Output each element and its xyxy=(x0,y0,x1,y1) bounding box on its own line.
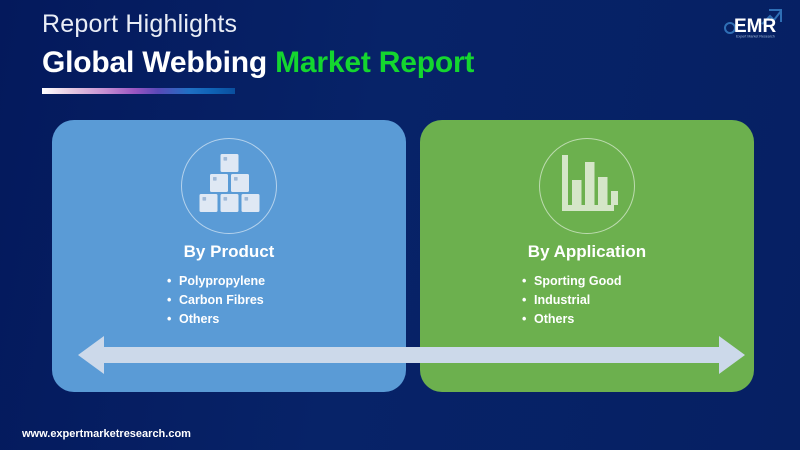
list-item: Polypropylene xyxy=(167,272,291,291)
footer-website-url[interactable]: www.expertmarketresearch.com xyxy=(22,428,191,440)
emr-logo[interactable]: EMR Expert Market Research xyxy=(722,6,790,40)
card-item-list: Polypropylene Carbon Fibres Others xyxy=(52,272,406,329)
bar-chart-icon xyxy=(539,138,635,234)
segment-card-by-product[interactable]: By Product Polypropylene Carbon Fibres O… xyxy=(52,120,406,392)
boxes-stack-icon xyxy=(181,138,277,234)
list-item: Sporting Good xyxy=(522,272,652,291)
list-item: Industrial xyxy=(522,291,652,310)
page-eyebrow: Report Highlights xyxy=(42,10,237,39)
page-title-accent: Market Report xyxy=(275,46,474,79)
slide-canvas: Report Highlights Global Webbing Market … xyxy=(0,0,800,450)
segment-card-by-application[interactable]: By Application Sporting Good Industrial … xyxy=(420,120,754,392)
list-item: Carbon Fibres xyxy=(167,291,291,310)
page-title: Global Webbing Market Report xyxy=(42,46,474,80)
list-item: Others xyxy=(522,310,652,329)
page-title-primary: Global Webbing xyxy=(42,46,275,79)
card-title: By Application xyxy=(420,242,754,262)
card-title: By Product xyxy=(52,242,406,262)
list-item: Others xyxy=(167,310,291,329)
card-item-list: Sporting Good Industrial Others xyxy=(420,272,754,329)
svg-text:Expert Market Research: Expert Market Research xyxy=(736,35,775,39)
title-accent-bar xyxy=(42,88,235,94)
